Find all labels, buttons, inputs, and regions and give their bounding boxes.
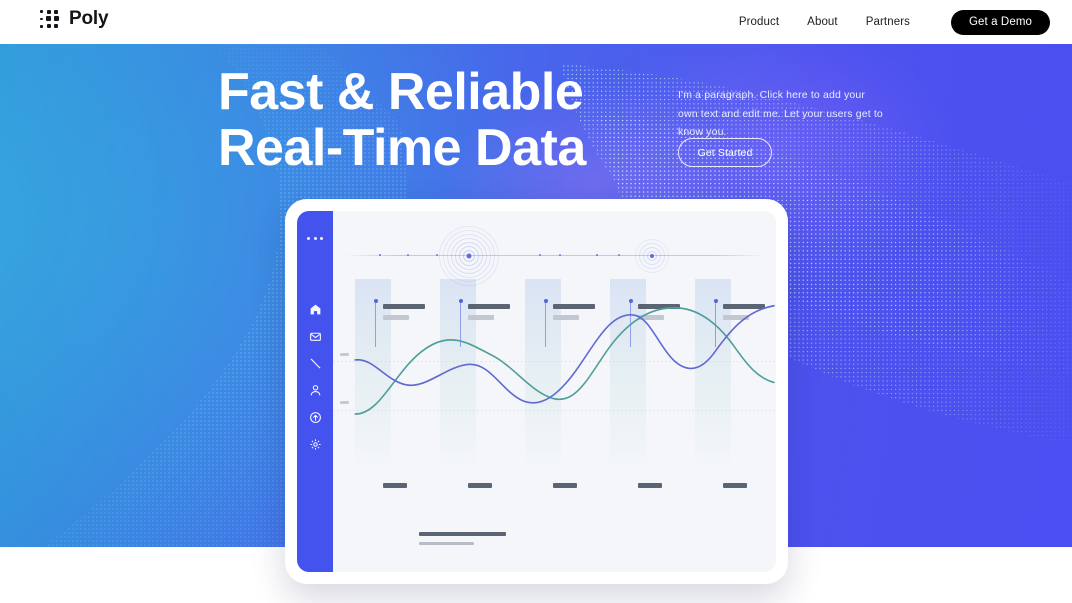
footer-sub-placeholder	[419, 542, 474, 546]
x-axis-label	[553, 483, 577, 488]
app-sidebar	[297, 211, 333, 572]
brand-name: Poly	[69, 8, 108, 30]
user-icon[interactable]	[308, 383, 322, 397]
tablet-mockup	[285, 199, 788, 584]
hero-title-line-2: Real-Time Data	[218, 121, 586, 176]
home-icon[interactable]	[308, 302, 322, 316]
mail-icon[interactable]	[308, 329, 322, 343]
hero-paragraph: I'm a paragraph. Click here to add your …	[678, 86, 883, 142]
x-axis-label	[638, 483, 662, 488]
get-started-button[interactable]: Get Started	[678, 138, 772, 167]
brand[interactable]: Poly	[38, 8, 108, 30]
nav-item-about[interactable]: About	[793, 16, 852, 28]
nav-item-product[interactable]: Product	[725, 16, 793, 28]
series-teal-line	[355, 308, 774, 414]
footer-title-placeholder	[419, 532, 506, 536]
dot-grid-logo-icon	[38, 8, 60, 30]
line-chart-series	[333, 211, 776, 572]
dashboard-canvas	[333, 211, 776, 572]
hero-title: Fast & Reliable Real-Time Data	[218, 65, 586, 176]
three-dots-icon[interactable]	[307, 237, 323, 240]
site-header: Poly Product About Partners Get a Demo	[0, 0, 1072, 44]
hero-title-line-1: Fast & Reliable	[218, 63, 583, 121]
trend-line-icon[interactable]	[308, 356, 322, 370]
nav-item-partners[interactable]: Partners	[852, 16, 924, 28]
main-nav: Product About Partners Get a Demo	[725, 0, 1050, 44]
upload-circle-icon[interactable]	[308, 410, 322, 424]
x-axis-label	[468, 483, 492, 488]
x-axis-label	[723, 483, 747, 488]
get-a-demo-button[interactable]: Get a Demo	[951, 10, 1050, 35]
x-axis-label	[383, 483, 407, 488]
gear-icon[interactable]	[308, 437, 322, 451]
app-screen	[297, 211, 776, 572]
